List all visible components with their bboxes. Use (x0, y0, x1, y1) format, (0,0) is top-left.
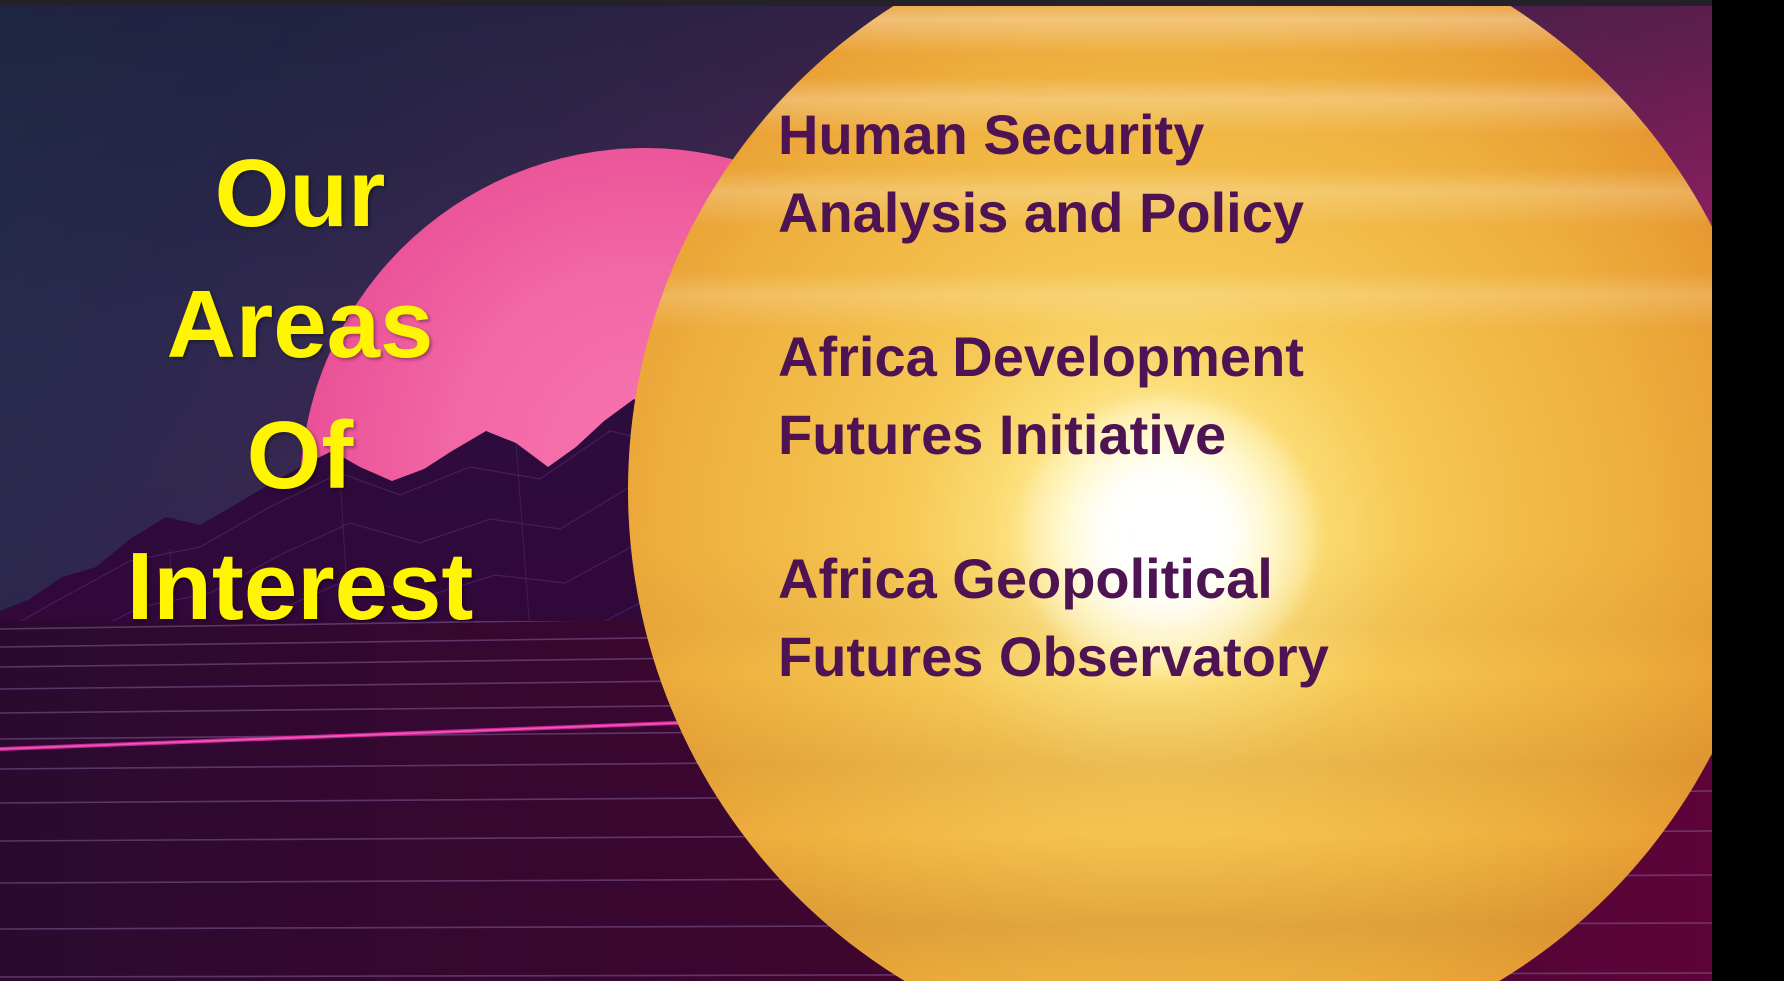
area-item-human-security-line-2: Analysis and Policy (778, 174, 1438, 252)
slide-canvas: Our Areas Of Interest Human Security Ana… (0, 0, 1784, 981)
right-black-margin (1712, 0, 1784, 981)
page-title-line-4: Interest (40, 521, 560, 652)
page-title-line-1: Our (40, 128, 560, 259)
area-item-africa-development-futures-line-2: Futures Initiative (778, 396, 1438, 474)
top-edge-band (0, 0, 1712, 6)
page-title: Our Areas Of Interest (40, 128, 560, 652)
area-item-africa-development-futures: Africa Development Futures Initiative (778, 318, 1438, 474)
areas-of-interest-list: Human Security Analysis and Policy Afric… (778, 96, 1438, 696)
area-item-human-security-line-1: Human Security (778, 96, 1438, 174)
area-item-human-security: Human Security Analysis and Policy (778, 96, 1438, 252)
area-item-africa-geopolitical-futures-line-2: Futures Observatory (778, 618, 1438, 696)
area-item-africa-geopolitical-futures: Africa Geopolitical Futures Observatory (778, 540, 1438, 696)
page-title-line-2: Areas (40, 259, 560, 390)
area-item-africa-development-futures-line-1: Africa Development (778, 318, 1438, 396)
page-title-line-3: Of (40, 390, 560, 521)
area-item-africa-geopolitical-futures-line-1: Africa Geopolitical (778, 540, 1438, 618)
